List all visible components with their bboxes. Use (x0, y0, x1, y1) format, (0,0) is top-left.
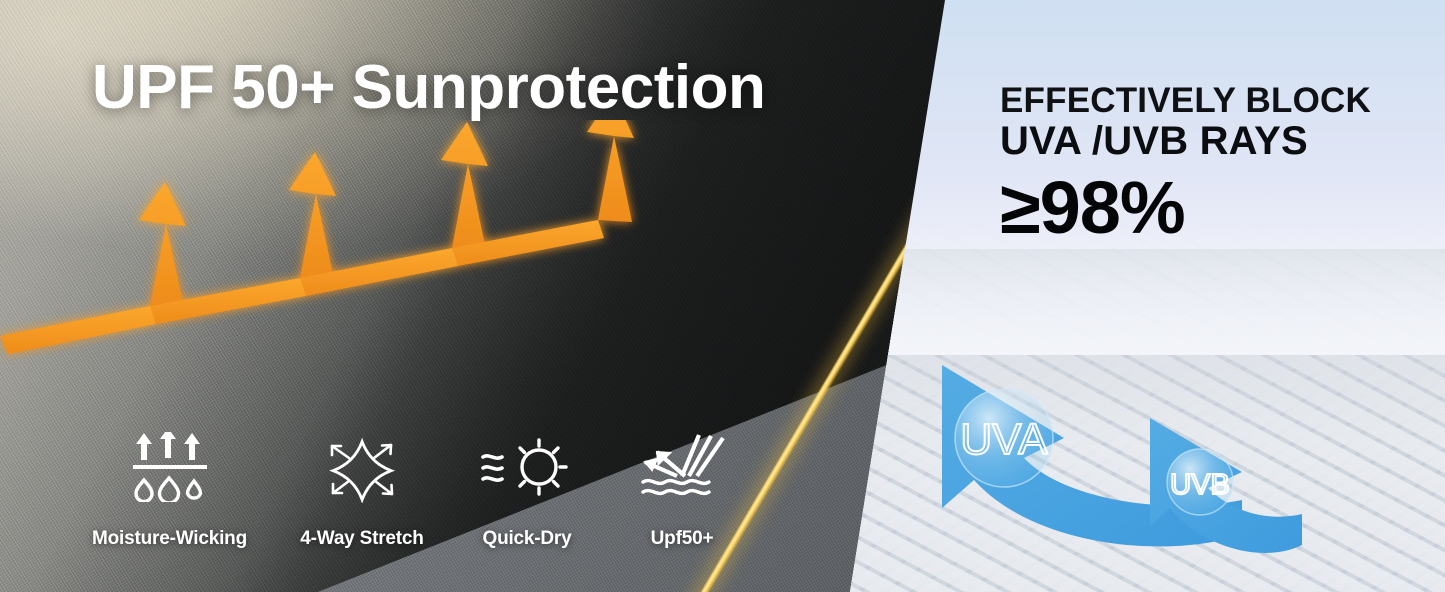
feature-label: Quick-Dry (482, 528, 571, 550)
page-title: UPF 50+ Sunprotection (92, 52, 765, 123)
feature-moisture-wicking[interactable]: Moisture-Wicking (62, 432, 277, 550)
block-percentage: ≥98% (1000, 171, 1371, 245)
four-way-stretch-icon (319, 432, 405, 502)
feature-list: Moisture-Wicking 4-Way Stretch (62, 420, 762, 550)
uva-bubble: UVA (955, 389, 1053, 487)
uv-block-claim: EFFECTIVELY BLOCK UVA /UVB RAYS ≥98% (1000, 82, 1371, 245)
uvb-bubble: UVB (1167, 449, 1233, 515)
feature-label: Upf50+ (651, 528, 714, 550)
feature-label: Moisture-Wicking (92, 528, 247, 550)
orange-deflection-arrows-icon (0, 120, 720, 380)
upf-sun-protection-banner: UPF 50+ Sunprotection (0, 0, 1445, 592)
feature-quick-dry[interactable]: Quick-Dry (447, 432, 607, 550)
upf50-icon (637, 432, 727, 502)
svg-text:UVB: UVB (1170, 469, 1230, 501)
feature-four-way-stretch[interactable]: 4-Way Stretch (277, 432, 447, 550)
claim-line-1: EFFECTIVELY BLOCK (1000, 82, 1371, 119)
uva-uvb-deflection-graphic: UVA UVB (912, 330, 1312, 570)
feature-label: 4-Way Stretch (300, 528, 423, 550)
moisture-wicking-icon (127, 432, 213, 502)
feature-upf50[interactable]: Upf50+ (607, 432, 757, 550)
svg-text:UVA: UVA (960, 415, 1048, 464)
claim-line-2: UVA /UVB RAYS (1000, 120, 1371, 163)
quick-dry-icon (481, 432, 573, 502)
